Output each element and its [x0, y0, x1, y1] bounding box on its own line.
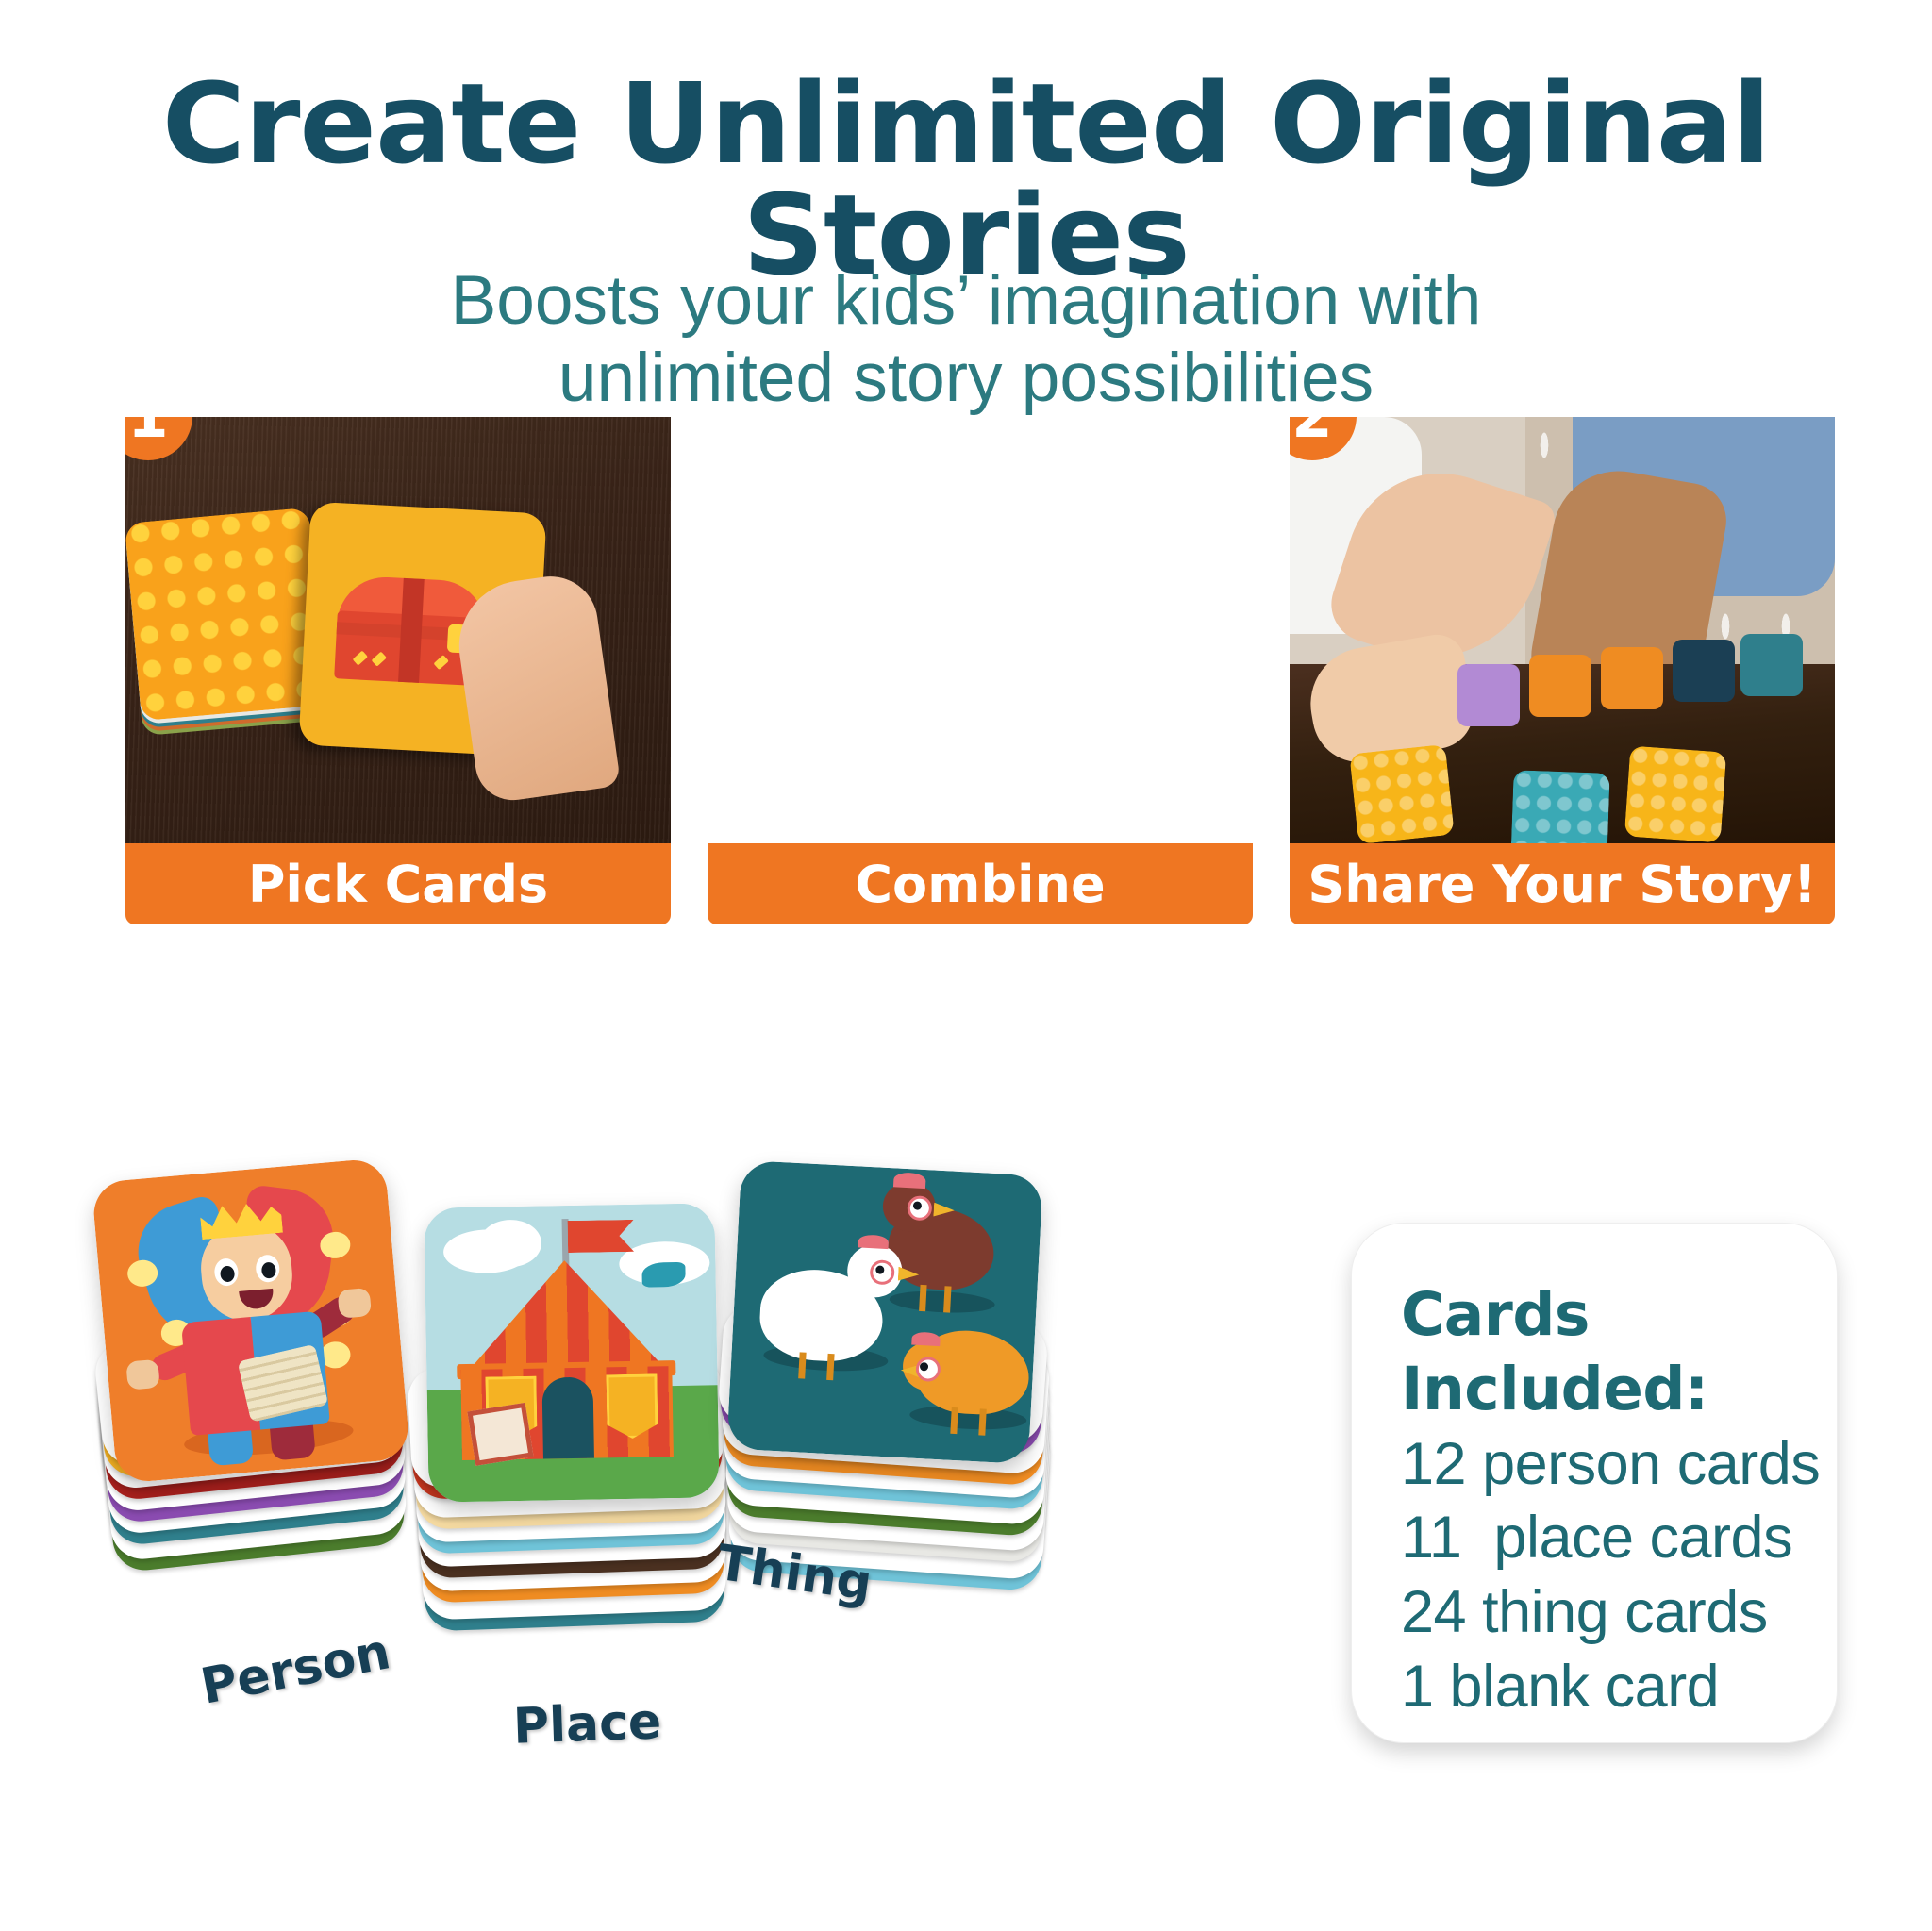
- page-title: Create Unlimited Original Stories: [0, 68, 1932, 291]
- cards-included-box: Cards Included: 12 person cards 11 place…: [1351, 1223, 1838, 1743]
- step-card-3: 3 Share Your Story!: [1290, 417, 1835, 924]
- cards-included-item-place: 11 place cards: [1401, 1501, 1825, 1575]
- sign-icon: [467, 1403, 533, 1466]
- card-stack-place: Place: [408, 1206, 766, 1715]
- card-deck: [125, 508, 326, 728]
- step-caption-2: Combine: [708, 843, 1253, 924]
- cards-included-heading: Cards Included:: [1401, 1278, 1825, 1427]
- promo-infographic: Create Unlimited Original Stories Boosts…: [0, 0, 1932, 1931]
- photo-pick-cards: [125, 417, 671, 843]
- step-card-1: 1 Pick Cards: [125, 417, 671, 924]
- card-stack-person: Person: [87, 1170, 445, 1660]
- page-subtitle: Boosts your kids’ imagination with unlim…: [0, 262, 1932, 418]
- step-caption-1: Pick Cards: [125, 843, 671, 924]
- step-caption-3: Share Your Story!: [1290, 843, 1835, 924]
- thing-top-card: [726, 1160, 1043, 1464]
- cards-included-list: Cards Included: 12 person cards 11 place…: [1401, 1278, 1825, 1724]
- cards-included-item-thing: 24 thing cards: [1401, 1575, 1825, 1650]
- card-stacks-row: Person: [0, 1170, 1932, 1887]
- card-stack-thing: Thing: [717, 1168, 1094, 1658]
- cards-included-item-person: 12 person cards: [1401, 1427, 1825, 1502]
- step-photo-1: 1: [125, 417, 671, 843]
- step-card-2: 2 Combine: [708, 417, 1253, 924]
- person-top-card: [92, 1157, 411, 1484]
- steps-row: 1 Pick Cards: [125, 417, 1835, 843]
- stack-label-place: Place: [512, 1693, 662, 1755]
- stack-label-person: Person: [196, 1623, 394, 1716]
- place-top-card: [424, 1203, 719, 1502]
- cards-included-item-blank: 1 blank card: [1401, 1650, 1825, 1724]
